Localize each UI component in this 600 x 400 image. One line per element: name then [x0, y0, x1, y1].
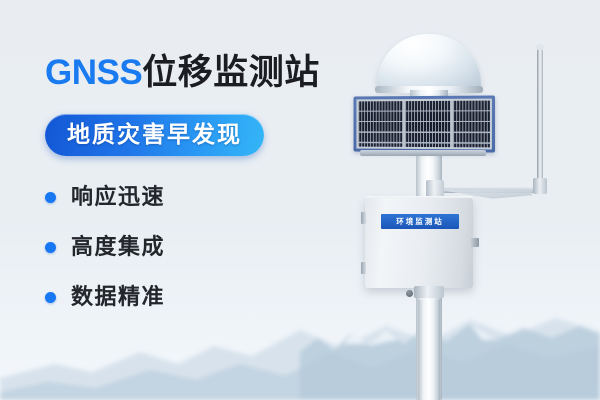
list-item: 响应迅速 — [45, 184, 305, 210]
feature-list: 响应迅速 高度集成 数据精准 — [45, 184, 305, 334]
enclosure-name-plate: 环境监测站 — [381, 214, 459, 229]
gnss-antenna-dome-icon — [377, 34, 481, 90]
bullet-dot-icon — [45, 292, 56, 303]
status-badge: 地质灾害早发现 — [45, 114, 264, 156]
feature-label: 数据精准 — [71, 284, 165, 310]
antenna-base-mount — [533, 178, 547, 194]
enclosure-latch-icon — [471, 238, 479, 247]
list-item: 数据精准 — [45, 284, 305, 310]
solar-cell-grid — [356, 99, 492, 150]
feature-label: 响应迅速 — [71, 184, 165, 210]
monitoring-station-illustration: 环境监测站 — [330, 0, 600, 400]
enclosure-hinge-icon — [361, 212, 366, 224]
copy-column: GNSS位移监测站 地质灾害早发现 响应迅速 高度集成 数据精准 — [0, 0, 340, 400]
instrument-enclosure: 环境监测站 — [365, 198, 473, 288]
mounting-pole-lower — [418, 300, 440, 400]
feature-label: 高度集成 — [71, 234, 165, 260]
enclosure-bolt-icon — [406, 290, 413, 297]
promo-poster: GNSS位移监测站 地质灾害早发现 响应迅速 高度集成 数据精准 — [0, 0, 600, 400]
enclosure-hinge-icon — [361, 262, 366, 274]
bullet-dot-icon — [45, 242, 56, 253]
whip-antenna-icon — [537, 48, 543, 182]
solar-panel-mount — [360, 150, 486, 156]
title-brand: GNSS — [45, 53, 142, 92]
list-item: 高度集成 — [45, 234, 305, 260]
pole-collar — [414, 286, 444, 298]
solar-panel-icon — [354, 95, 496, 152]
page-title: GNSS位移监测站 — [45, 52, 320, 94]
title-subject: 位移监测站 — [142, 53, 320, 92]
bullet-dot-icon — [45, 192, 56, 203]
whip-antenna-tip — [536, 44, 544, 50]
